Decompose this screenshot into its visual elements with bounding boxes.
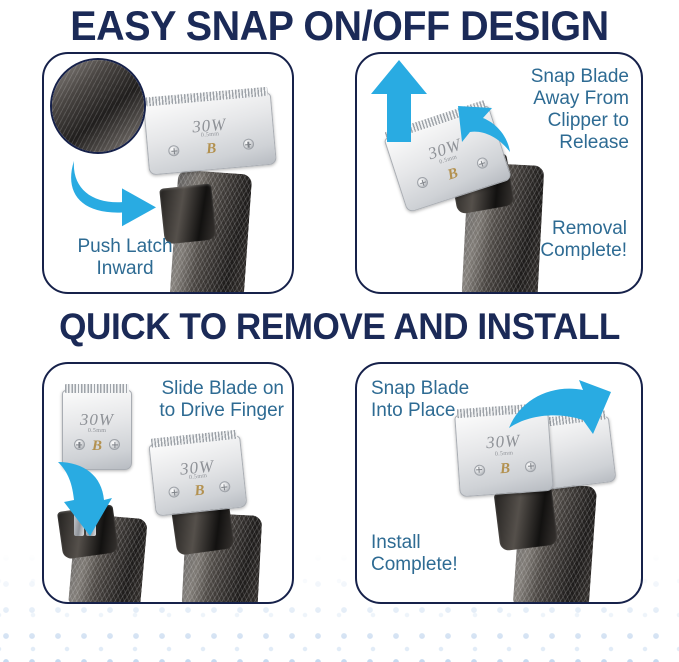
blade-teeth [151, 430, 237, 448]
slide-blade-down-arrow [54, 460, 114, 540]
caption-slide-blade: Slide Blade on to Drive Finger [116, 378, 284, 422]
blade-screw-right [525, 460, 537, 472]
blade-screw-left [74, 439, 85, 450]
panel-snap-away: 30W 0.5mm B Snap Blade Away From Clipper… [355, 52, 643, 294]
panel-snap-into-place: 30W 0.5mm B Snap Blade Into Place Instal… [355, 362, 643, 604]
brand-logo: B [206, 141, 217, 159]
snap-away-up-arrow [369, 58, 429, 144]
brand-logo: B [446, 165, 461, 184]
blade-screw-left [168, 486, 180, 498]
blade-screw-left [168, 145, 180, 157]
blade-screw-right [218, 481, 230, 493]
blade-model-mark: 30W [151, 453, 243, 482]
brand-logo: B [194, 482, 206, 500]
caption-push-latch: Push Latch Inward [50, 236, 200, 280]
snap-into-place-arrow [505, 378, 613, 444]
blade-model-mark: 30W [146, 110, 273, 141]
blade-teeth [146, 87, 268, 107]
blade-screw-left [416, 176, 430, 190]
panel-push-latch: 30W 0.5mm B Push Latch Inward [42, 52, 294, 294]
brand-logo: B [92, 438, 102, 455]
blade-screw-right [242, 139, 254, 151]
blade-screw-right [109, 439, 120, 450]
blade-size-mark: 0.5mm [458, 447, 550, 459]
push-latch-arrow [66, 162, 160, 234]
page-title-lower: QUICK TO REMOVE AND INSTALL [17, 306, 662, 348]
latch-magnifier-inset [50, 58, 146, 154]
panel-slide-blade: 30W 0.5mm B 30W 0.5mm B Slide Blade on t [42, 362, 294, 604]
blade-screw-left [473, 464, 485, 476]
blade-screw-right [475, 156, 489, 170]
blade-size-mark: 0.5mm [63, 428, 131, 434]
snap-away-diagonal-arrow [452, 102, 514, 156]
brand-logo: B [500, 461, 511, 479]
caption-install-complete: Install Complete! [371, 532, 531, 576]
caption-removal-complete: Removal Complete! [467, 218, 627, 262]
page-title-main: EASY SNAP ON/OFF DESIGN [20, 2, 658, 50]
